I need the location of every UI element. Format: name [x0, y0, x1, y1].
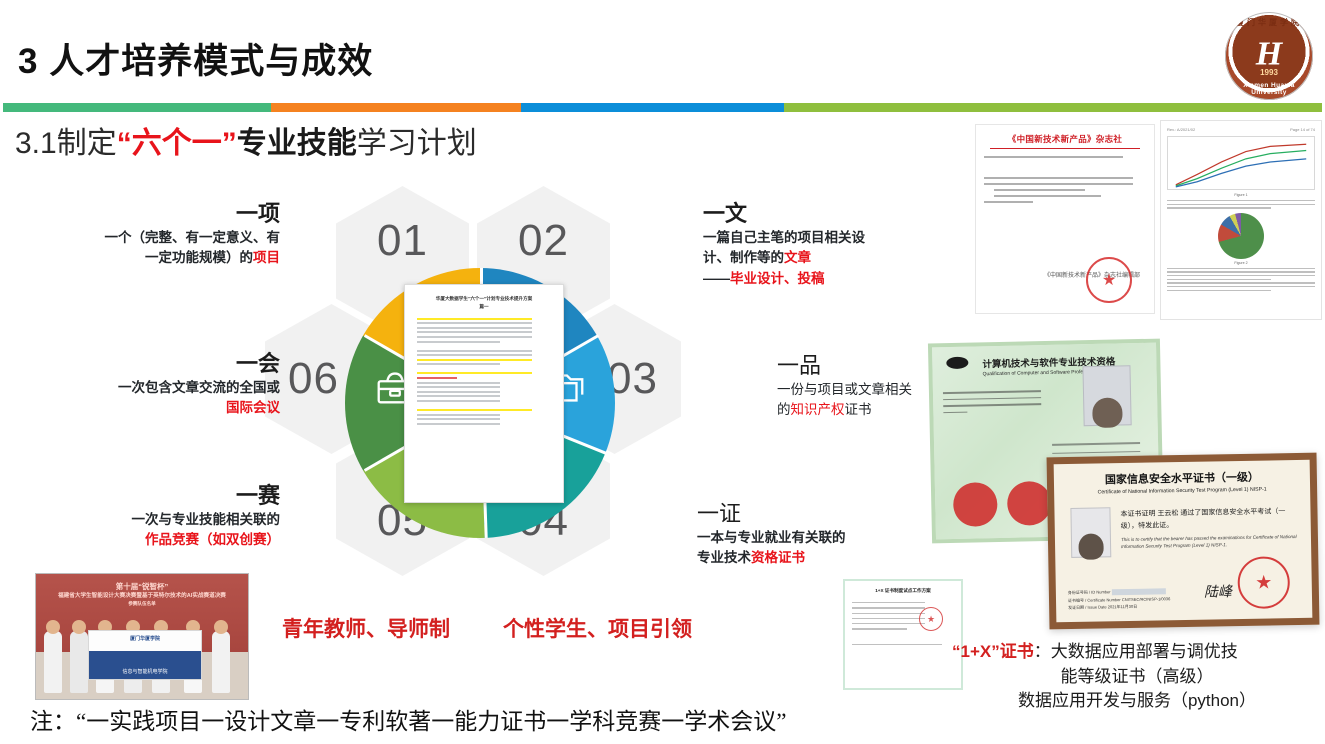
photo-person: [44, 631, 62, 693]
red-seal-icon: ★: [919, 607, 943, 631]
doc-line: [417, 395, 500, 397]
banner-line-2: 福建省大学生智能设计大赛决赛暨基于英特尔技术的AI实战赛道决赛: [50, 592, 234, 600]
doc-line: [417, 391, 500, 393]
slide-root: 3 人才培养模式与成效 3.1制定“六个一”专业技能学习计划 厦门华厦学院 H …: [0, 0, 1325, 744]
paper-figure-caption: Figure 1: [1167, 193, 1315, 197]
red-seal-icon: ★: [1086, 257, 1132, 303]
letter-line: [994, 195, 1101, 197]
page-title: 3 人才培养模式与成效: [18, 33, 373, 84]
cert-field-line: [1052, 442, 1140, 445]
doc-1x-line: [852, 607, 925, 608]
paper-line: [1167, 271, 1315, 272]
doc-paragraph: [417, 318, 551, 343]
label-line-2-red: 知识产权: [791, 402, 845, 417]
label-yixiang: 一项 一个（完整、有一定意义、有 一定功能规模）的项目: [20, 200, 280, 269]
subtitle-part-3: 专业技能: [237, 127, 357, 160]
label-body: 一个（完整、有一定意义、有 一定功能规模）的项目: [20, 228, 280, 270]
acceptance-letter-image: 《中国新技术新产品》杂志社 《中国新技术新产品》杂志社编辑部 ★: [975, 124, 1155, 314]
letter-rule: [990, 148, 1140, 149]
doc-line-highlight: [417, 318, 532, 320]
doc-1x-line: [852, 618, 925, 619]
paper-header-left: Rev.: A/2021/02: [1167, 127, 1195, 132]
doc-line: [417, 414, 500, 416]
doc-line: [417, 400, 500, 402]
paper-line: [1167, 207, 1271, 208]
nisp-id-value-redacted: [1112, 588, 1166, 595]
nisp-title-cn: 国家信息安全水平证书（一级）: [1064, 468, 1300, 488]
label-line-2-red: 作品竞赛（如双创赛）: [145, 532, 280, 547]
cert-line: [943, 403, 1041, 407]
six-ones-wheel: 01 02 03 04 05 06: [256, 186, 706, 590]
subtitle-part-4: 学习计划: [357, 127, 477, 160]
letter-line: [994, 189, 1085, 191]
label-line-2-dark: 计、制作等的: [703, 250, 784, 265]
label-line-1: 一本与专业就业有关联的: [697, 530, 846, 545]
flag-bottom-text: 信息与智能机电学院: [89, 668, 201, 675]
paper-header-right: Page 14 of 74: [1290, 127, 1315, 132]
doc-line-highlight: [417, 359, 532, 361]
label-yizheng: 一证 一本与专业就业有关联的 专业技术资格证书: [697, 500, 937, 569]
note-quote-open: “: [952, 642, 961, 661]
photo-flag: 厦门华厦学院 信息与智能机电学院: [88, 630, 202, 680]
one-plus-x-document-image: 1+X 证书制度试点工作方案 ★: [843, 579, 963, 690]
letter-line: [984, 183, 1133, 185]
cert-photo: [1082, 365, 1131, 426]
label-yiwen: 一文 一篇自己主笔的项目相关设 计、制作等的文章 ——毕业设计、投稿: [703, 200, 953, 290]
doc-line: [417, 386, 500, 388]
paper-line: [1167, 286, 1315, 287]
divider-segment-lime: [784, 103, 1322, 112]
nisp-date-row: 发证日期 / Issue Date 2021年11月30日: [1068, 603, 1170, 612]
doc-1x-line: [852, 602, 925, 603]
label-yisai: 一赛 一次与专业技能相关联的 作品竞赛（如双创赛）: [20, 482, 280, 551]
doc-line: [417, 418, 500, 420]
doc-1x-line: [852, 613, 925, 614]
note-line-3: 数据应用开发与服务（python）: [952, 689, 1322, 714]
paper-line: [1167, 282, 1315, 283]
note-text-1: 大数据应用部署与调优技: [1051, 642, 1238, 661]
doc-line: [417, 350, 532, 352]
label-head: 一赛: [20, 482, 280, 510]
label-line-2-dark-b: 证书: [845, 402, 872, 417]
photo-banner-text: 第十届“锐智杯” 福建省大学生智能设计大赛决赛暨基于英特尔技术的AI实战赛道决赛…: [50, 581, 234, 608]
nisp-body-cn: 本证书证明 王云松 通过了国家信息安全水平考试（一级），特发此证。: [1120, 508, 1285, 530]
center-document-title: 华厦大数据学生“六个一”计划专业技术提升方案: [417, 295, 551, 303]
logo-name-cn: 厦门华厦学院: [1225, 17, 1313, 28]
divider-segment-orange: [271, 103, 521, 112]
letter-title: 《中国新技术新产品》杂志社: [984, 133, 1146, 145]
doc-paragraph: [417, 409, 551, 425]
doc-1x-line: [852, 644, 942, 645]
doc-line: [417, 327, 532, 329]
nisp-cert-value: CNITSEC/RCINISP-1/0036: [1122, 596, 1171, 602]
red-seal-icon: ★: [1237, 556, 1290, 609]
paper-pie-chart: [1218, 213, 1264, 259]
paper-line: [1167, 200, 1315, 201]
doc-line: [417, 331, 532, 333]
nisp-signature: 陆峰: [1204, 581, 1232, 601]
center-document-subtitle: 篇一: [417, 303, 551, 311]
doc-line-red: [417, 377, 457, 379]
note-line-2: 能等级证书（高级）: [952, 665, 1322, 690]
doc-line: [417, 341, 500, 343]
footnote: 注：“一实践项目一设计文章一专利软著一能力证书一学科竞赛一学术会议”: [30, 702, 786, 736]
note-key: 1+X”证书: [961, 642, 1034, 661]
subtitle-part-1: 3.1制定: [15, 127, 117, 160]
doc-1x-line: [852, 623, 925, 624]
cert-line: [943, 397, 1041, 401]
doc-line: [417, 363, 500, 365]
label-line-2-red: 国际会议: [226, 400, 280, 415]
divider-segment-blue: [521, 103, 784, 112]
nisp-certificate-image: 国家信息安全水平证书（一级） Certificate of National I…: [1047, 453, 1320, 630]
hexagon-number: 06: [288, 354, 339, 404]
label-line-2-dark: 一定功能规模）的: [145, 250, 253, 265]
logo-year: 1993: [1260, 68, 1278, 77]
caption-left: 青年教师、导师制: [282, 613, 450, 643]
nisp-title-en: Certificate of National Information Secu…: [1064, 486, 1300, 496]
flag-top-text: 厦门华厦学院: [89, 635, 201, 642]
doc-paragraph: [417, 350, 551, 366]
label-body: 一次与专业技能相关联的 作品竞赛（如双创赛）: [20, 510, 280, 552]
divider-segment-green: [3, 103, 271, 112]
nisp-photo: [1070, 507, 1111, 558]
doc-line: [417, 322, 532, 324]
label-line-2-red: 文章: [784, 250, 811, 265]
label-body: 一次包含文章交流的全国或 国际会议: [10, 378, 280, 420]
university-logo: 厦门华厦学院 H 1993 Xiamen Huaxia University: [1225, 12, 1313, 100]
logo-name-en: Xiamen Huaxia University: [1225, 82, 1313, 96]
section-subtitle: 3.1制定“六个一”专业技能学习计划: [15, 118, 477, 162]
paper-line: [1167, 268, 1315, 269]
label-line-1: 一份与项目或文章相关: [777, 382, 912, 397]
nisp-id-label: 身份证号码 / ID Number: [1068, 589, 1111, 595]
photo-person: [70, 631, 88, 693]
label-line-1: 一次包含文章交流的全国或: [118, 380, 280, 395]
paper-line: [1167, 279, 1271, 280]
subtitle-part-highlight: “六个一”: [117, 127, 237, 160]
banner-line-3: 参赛队伍名单: [50, 601, 234, 608]
red-seal-icon: [953, 482, 998, 527]
label-head: 一项: [20, 200, 280, 228]
label-head: 一会: [10, 350, 280, 378]
label-line-3-dark: ——: [703, 271, 730, 286]
letter-line: [984, 201, 1033, 203]
label-body: 一篇自己主笔的项目相关设 计、制作等的文章 ——毕业设计、投稿: [703, 228, 953, 291]
nisp-body: 本证书证明 王云松 通过了国家信息安全水平考试（一级），特发此证。 This i…: [1120, 506, 1299, 551]
cert-field-line: [1052, 451, 1140, 454]
note-line-1: “1+X”证书：大数据应用部署与调优技: [952, 640, 1322, 665]
label-yihui: 一会 一次包含文章交流的全国或 国际会议: [10, 350, 280, 419]
banner-line-1: 第十届“锐智杯”: [50, 581, 234, 592]
doc-line: [417, 354, 532, 356]
doc-1x-line: [852, 628, 907, 629]
label-line-1: 一次与专业技能相关联的: [132, 512, 281, 527]
note-colon: ：: [1034, 642, 1051, 661]
label-line-2-red: 资格证书: [751, 550, 805, 565]
doc-paragraph: [417, 372, 551, 402]
label-line-3-red: 毕业设计、投稿: [730, 271, 825, 286]
nisp-date-value: 2021年11月30日: [1108, 604, 1138, 610]
label-head: 一证: [697, 500, 937, 528]
nisp-date-label: 发证日期 / Issue Date: [1068, 605, 1107, 611]
paper-header: Rev.: A/2021/02 Page 14 of 74: [1167, 127, 1315, 132]
doc-line: [417, 382, 500, 384]
doc-line: [417, 336, 532, 338]
team-competition-photo: 第十届“锐智杯” 福建省大学生智能设计大赛决赛暨基于英特尔技术的AI实战赛道决赛…: [35, 573, 249, 700]
photo-person: [212, 631, 230, 693]
label-body: 一本与专业就业有关联的 专业技术资格证书: [697, 528, 937, 570]
nisp-cert-label: 证书编号 / Certificate Number: [1068, 597, 1121, 603]
paper-figure-caption: Figure 2: [1167, 261, 1315, 265]
cert-line: [943, 411, 967, 413]
paper-line: [1167, 204, 1315, 205]
paper-line: [1167, 290, 1271, 291]
label-line-2-dark: 专业技术: [697, 550, 751, 565]
hexagon-number: 01: [377, 216, 428, 266]
doc-line: [417, 423, 500, 425]
doc-line-highlight: [417, 409, 532, 411]
cert-line: [943, 390, 1041, 394]
doc-1x-title: 1+X 证书制度试点工作方案: [852, 588, 954, 594]
paper-line: [1167, 275, 1315, 276]
label-head: 一文: [703, 200, 953, 228]
caption-right: 个性学生、项目引领: [503, 613, 692, 643]
letter-line: [984, 156, 1123, 158]
label-line-2-dark-a: 的: [777, 402, 791, 417]
one-plus-x-note: “1+X”证书：大数据应用部署与调优技 能等级证书（高级） 数据应用开发与服务（…: [952, 640, 1322, 714]
paper-line-chart: [1167, 136, 1315, 190]
color-divider: [3, 103, 1322, 112]
journal-paper-image: Rev.: A/2021/02 Page 14 of 74 Figure 1 F…: [1160, 120, 1322, 320]
emblem-icon: [946, 357, 968, 369]
center-document: 华厦大数据学生“六个一”计划专业技术提升方案 篇一: [404, 284, 564, 503]
letter-line: [984, 177, 1133, 179]
label-line-2-red: 项目: [253, 250, 280, 265]
hexagon-number: 02: [518, 216, 569, 266]
red-seal-icon: [1007, 481, 1052, 526]
label-line-1: 一篇自己主笔的项目相关设: [703, 230, 865, 245]
doc-line-highlight: [417, 372, 532, 374]
nisp-meta: 身份证号码 / ID Number 证书编号 / Certificate Num…: [1068, 587, 1171, 612]
nisp-body-en: This is to certify that the bearer has p…: [1121, 533, 1299, 551]
label-line-1: 一个（完整、有一定意义、有: [105, 230, 281, 245]
